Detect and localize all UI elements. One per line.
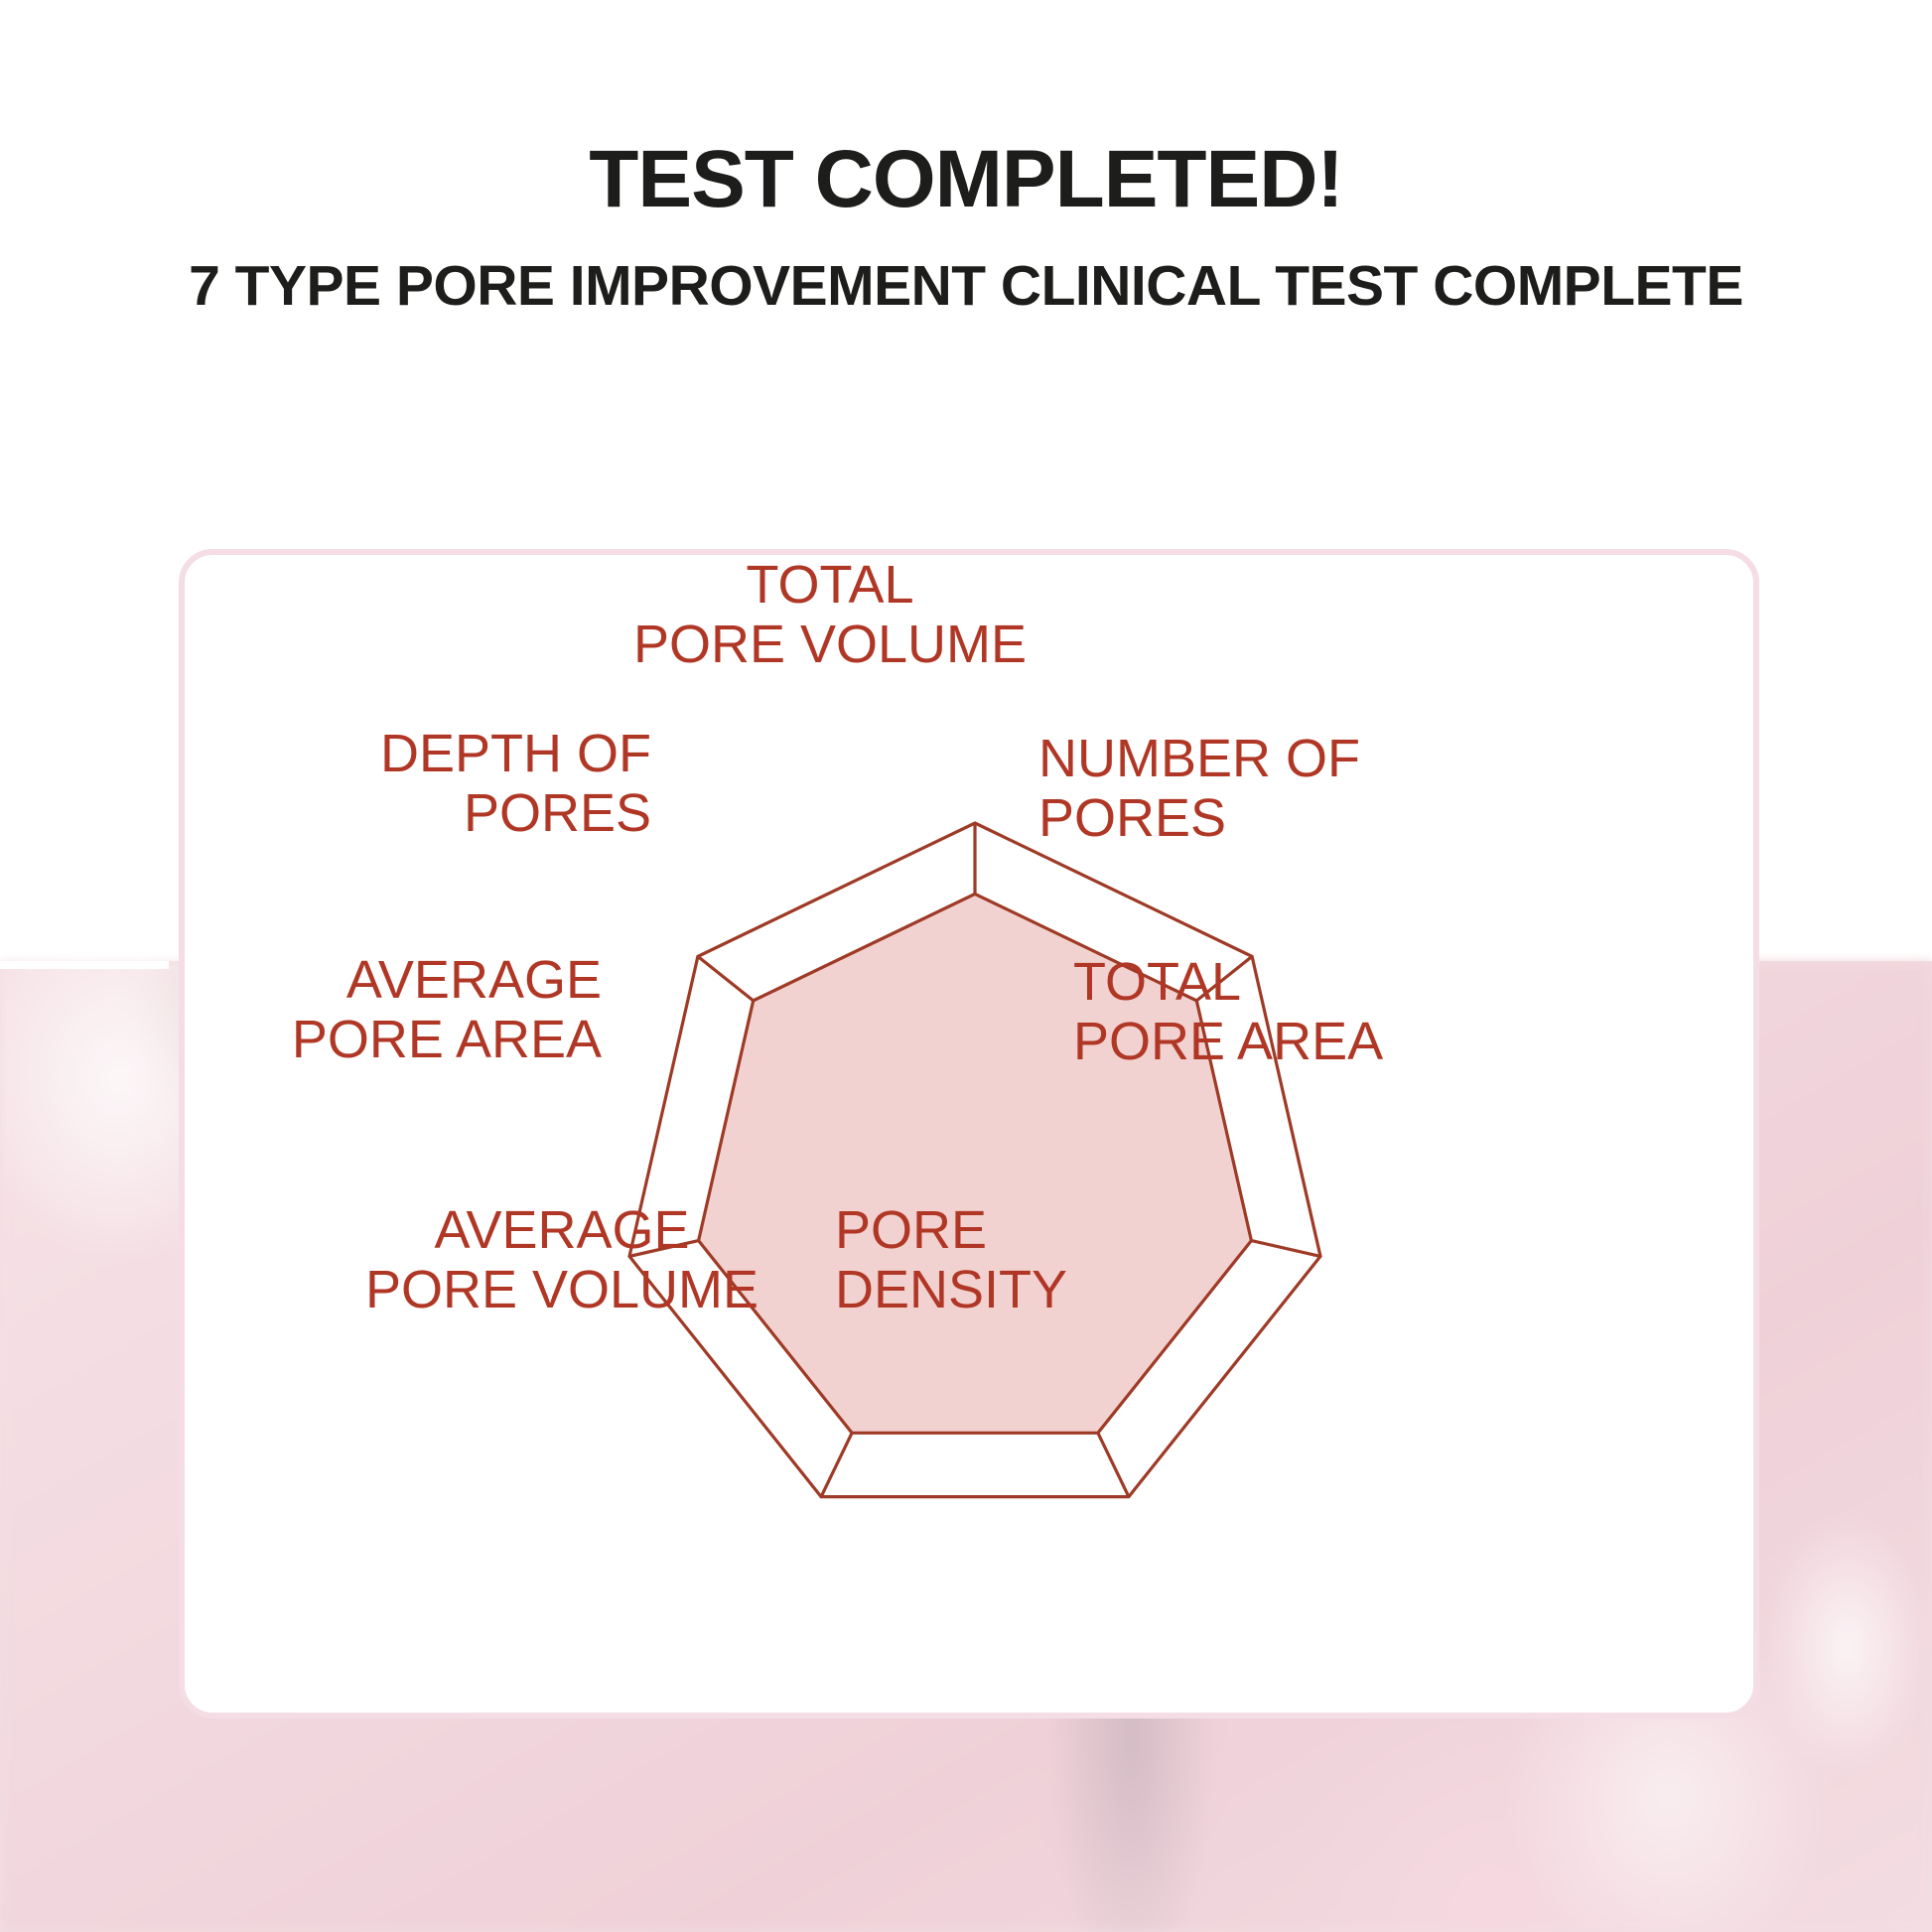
- chart-card-inner: TOTAL PORE VOLUME NUMBER OF PORES TOTAL …: [185, 555, 1753, 1713]
- page-subtitle: 7 TYPE PORE IMPROVEMENT CLINICAL TEST CO…: [0, 220, 1932, 315]
- axis-label-number-of-pores: NUMBER OF PORES: [1038, 729, 1455, 849]
- page-title: TEST COMPLETED!: [0, 0, 1932, 220]
- axis-label-average-pore-area: AVERAGE PORE AREA: [205, 950, 602, 1070]
- poster-root: TEST COMPLETED! 7 TYPE PORE IMPROVEMENT …: [0, 0, 1932, 1932]
- axis-label-depth-of-pores: DEPTH OF PORES: [244, 724, 651, 844]
- chart-card: TOTAL PORE VOLUME NUMBER OF PORES TOTAL …: [179, 549, 1759, 1719]
- axis-label-pore-density: PORE DENSITY: [835, 1200, 1163, 1320]
- background-photo-notch: [0, 961, 169, 969]
- axis-label-total-pore-volume: TOTAL PORE VOLUME: [602, 555, 1058, 675]
- axis-label-total-pore-area: TOTAL PORE AREA: [1073, 952, 1470, 1072]
- axis-label-average-pore-volume: AVERAGE PORE VOLUME: [334, 1200, 790, 1320]
- header: TEST COMPLETED! 7 TYPE PORE IMPROVEMENT …: [0, 0, 1932, 315]
